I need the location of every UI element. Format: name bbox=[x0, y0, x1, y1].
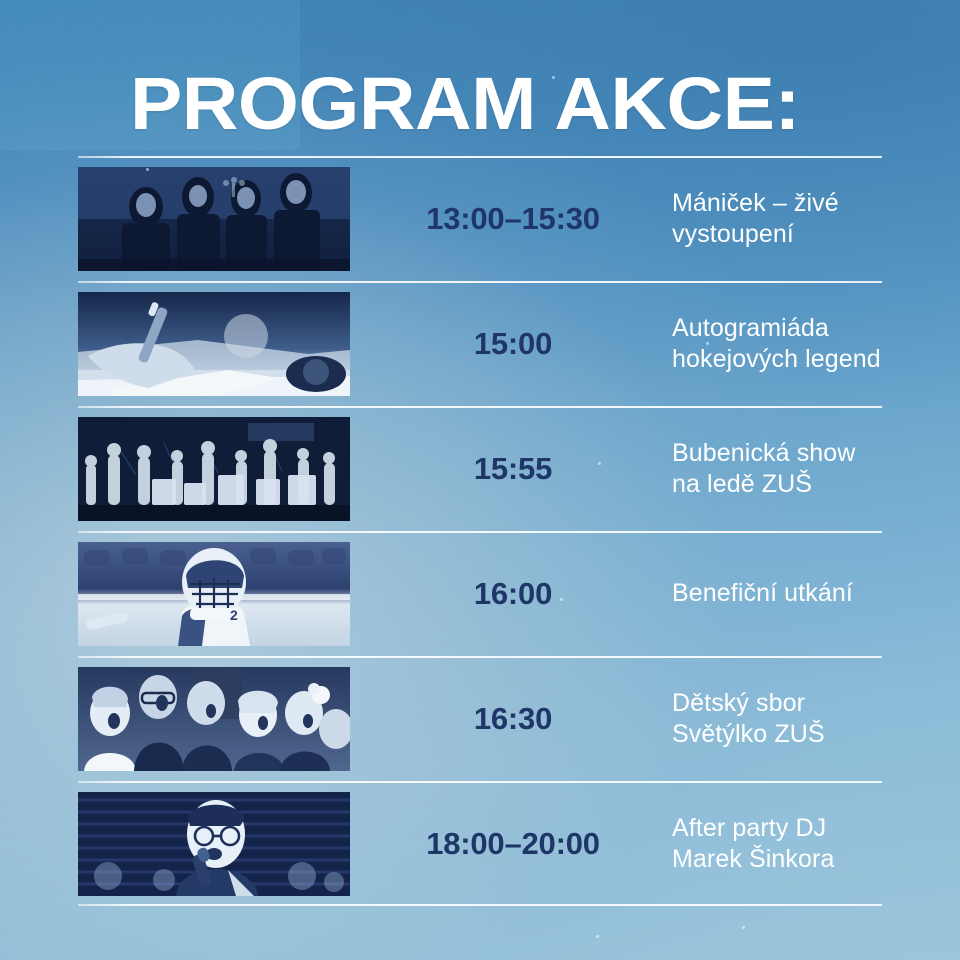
svg-text:2: 2 bbox=[230, 607, 238, 623]
row-description-line: hokejových legend bbox=[672, 344, 934, 375]
row-description: Bubenická show na ledě ZUŠ bbox=[672, 406, 934, 531]
dust-speck bbox=[742, 926, 745, 929]
program-schedule-list: 13:00–15:30 Mániček – živé vystoupení bbox=[0, 156, 960, 906]
page-title: PROGRAM AKCE: bbox=[130, 62, 800, 146]
dj-singer-thumbnail bbox=[78, 792, 350, 896]
table-row: 15:55 Bubenická show na ledě ZUŠ bbox=[0, 406, 960, 531]
row-divider-bottom bbox=[78, 904, 882, 906]
childrens-choir-thumbnail bbox=[78, 667, 350, 771]
row-description-line: Mániček – živé bbox=[672, 188, 934, 219]
band-photo-thumbnail bbox=[78, 167, 350, 271]
row-description: After party DJ Marek Šinkora bbox=[672, 781, 934, 906]
row-description: Benefiční utkání bbox=[672, 531, 934, 656]
row-description: Autogramiáda hokejových legend bbox=[672, 281, 934, 406]
row-description-line: Benefiční utkání bbox=[672, 578, 934, 609]
row-time: 16:00 bbox=[380, 531, 646, 656]
row-description: Mániček – živé vystoupení bbox=[672, 156, 934, 281]
row-description-line: After party DJ bbox=[672, 813, 934, 844]
table-row: 2 16:00 Benefiční utkání bbox=[0, 531, 960, 656]
row-time: 16:30 bbox=[380, 656, 646, 781]
row-time: 13:00–15:30 bbox=[380, 156, 646, 281]
row-description-line: Dětský sbor bbox=[672, 688, 934, 719]
row-description-line: Autogramiáda bbox=[672, 313, 934, 344]
autograph-signing-thumbnail bbox=[78, 292, 350, 396]
row-description-line: Bubenická show bbox=[672, 438, 934, 469]
table-row: 15:00 Autogramiáda hokejových legend bbox=[0, 281, 960, 406]
table-row: 16:30 Dětský sbor Světýlko ZUŠ bbox=[0, 656, 960, 781]
row-description-line: Marek Šinkora bbox=[672, 844, 934, 875]
drum-show-thumbnail bbox=[78, 417, 350, 521]
row-time: 18:00–20:00 bbox=[380, 781, 646, 906]
table-row: 18:00–20:00 After party DJ Marek Šinkora bbox=[0, 781, 960, 906]
program-poster: PROGRAM AKCE: bbox=[0, 0, 960, 960]
dust-speck bbox=[596, 935, 599, 938]
row-description: Dětský sbor Světýlko ZUŠ bbox=[672, 656, 934, 781]
row-description-line: vystoupení bbox=[672, 219, 934, 250]
table-row: 13:00–15:30 Mániček – živé vystoupení bbox=[0, 156, 960, 281]
row-description-line: Světýlko ZUŠ bbox=[672, 719, 934, 750]
row-description-line: na ledě ZUŠ bbox=[672, 469, 934, 500]
row-time: 15:55 bbox=[380, 406, 646, 531]
hockey-goalie-thumbnail: 2 bbox=[78, 542, 350, 646]
row-time: 15:00 bbox=[380, 281, 646, 406]
